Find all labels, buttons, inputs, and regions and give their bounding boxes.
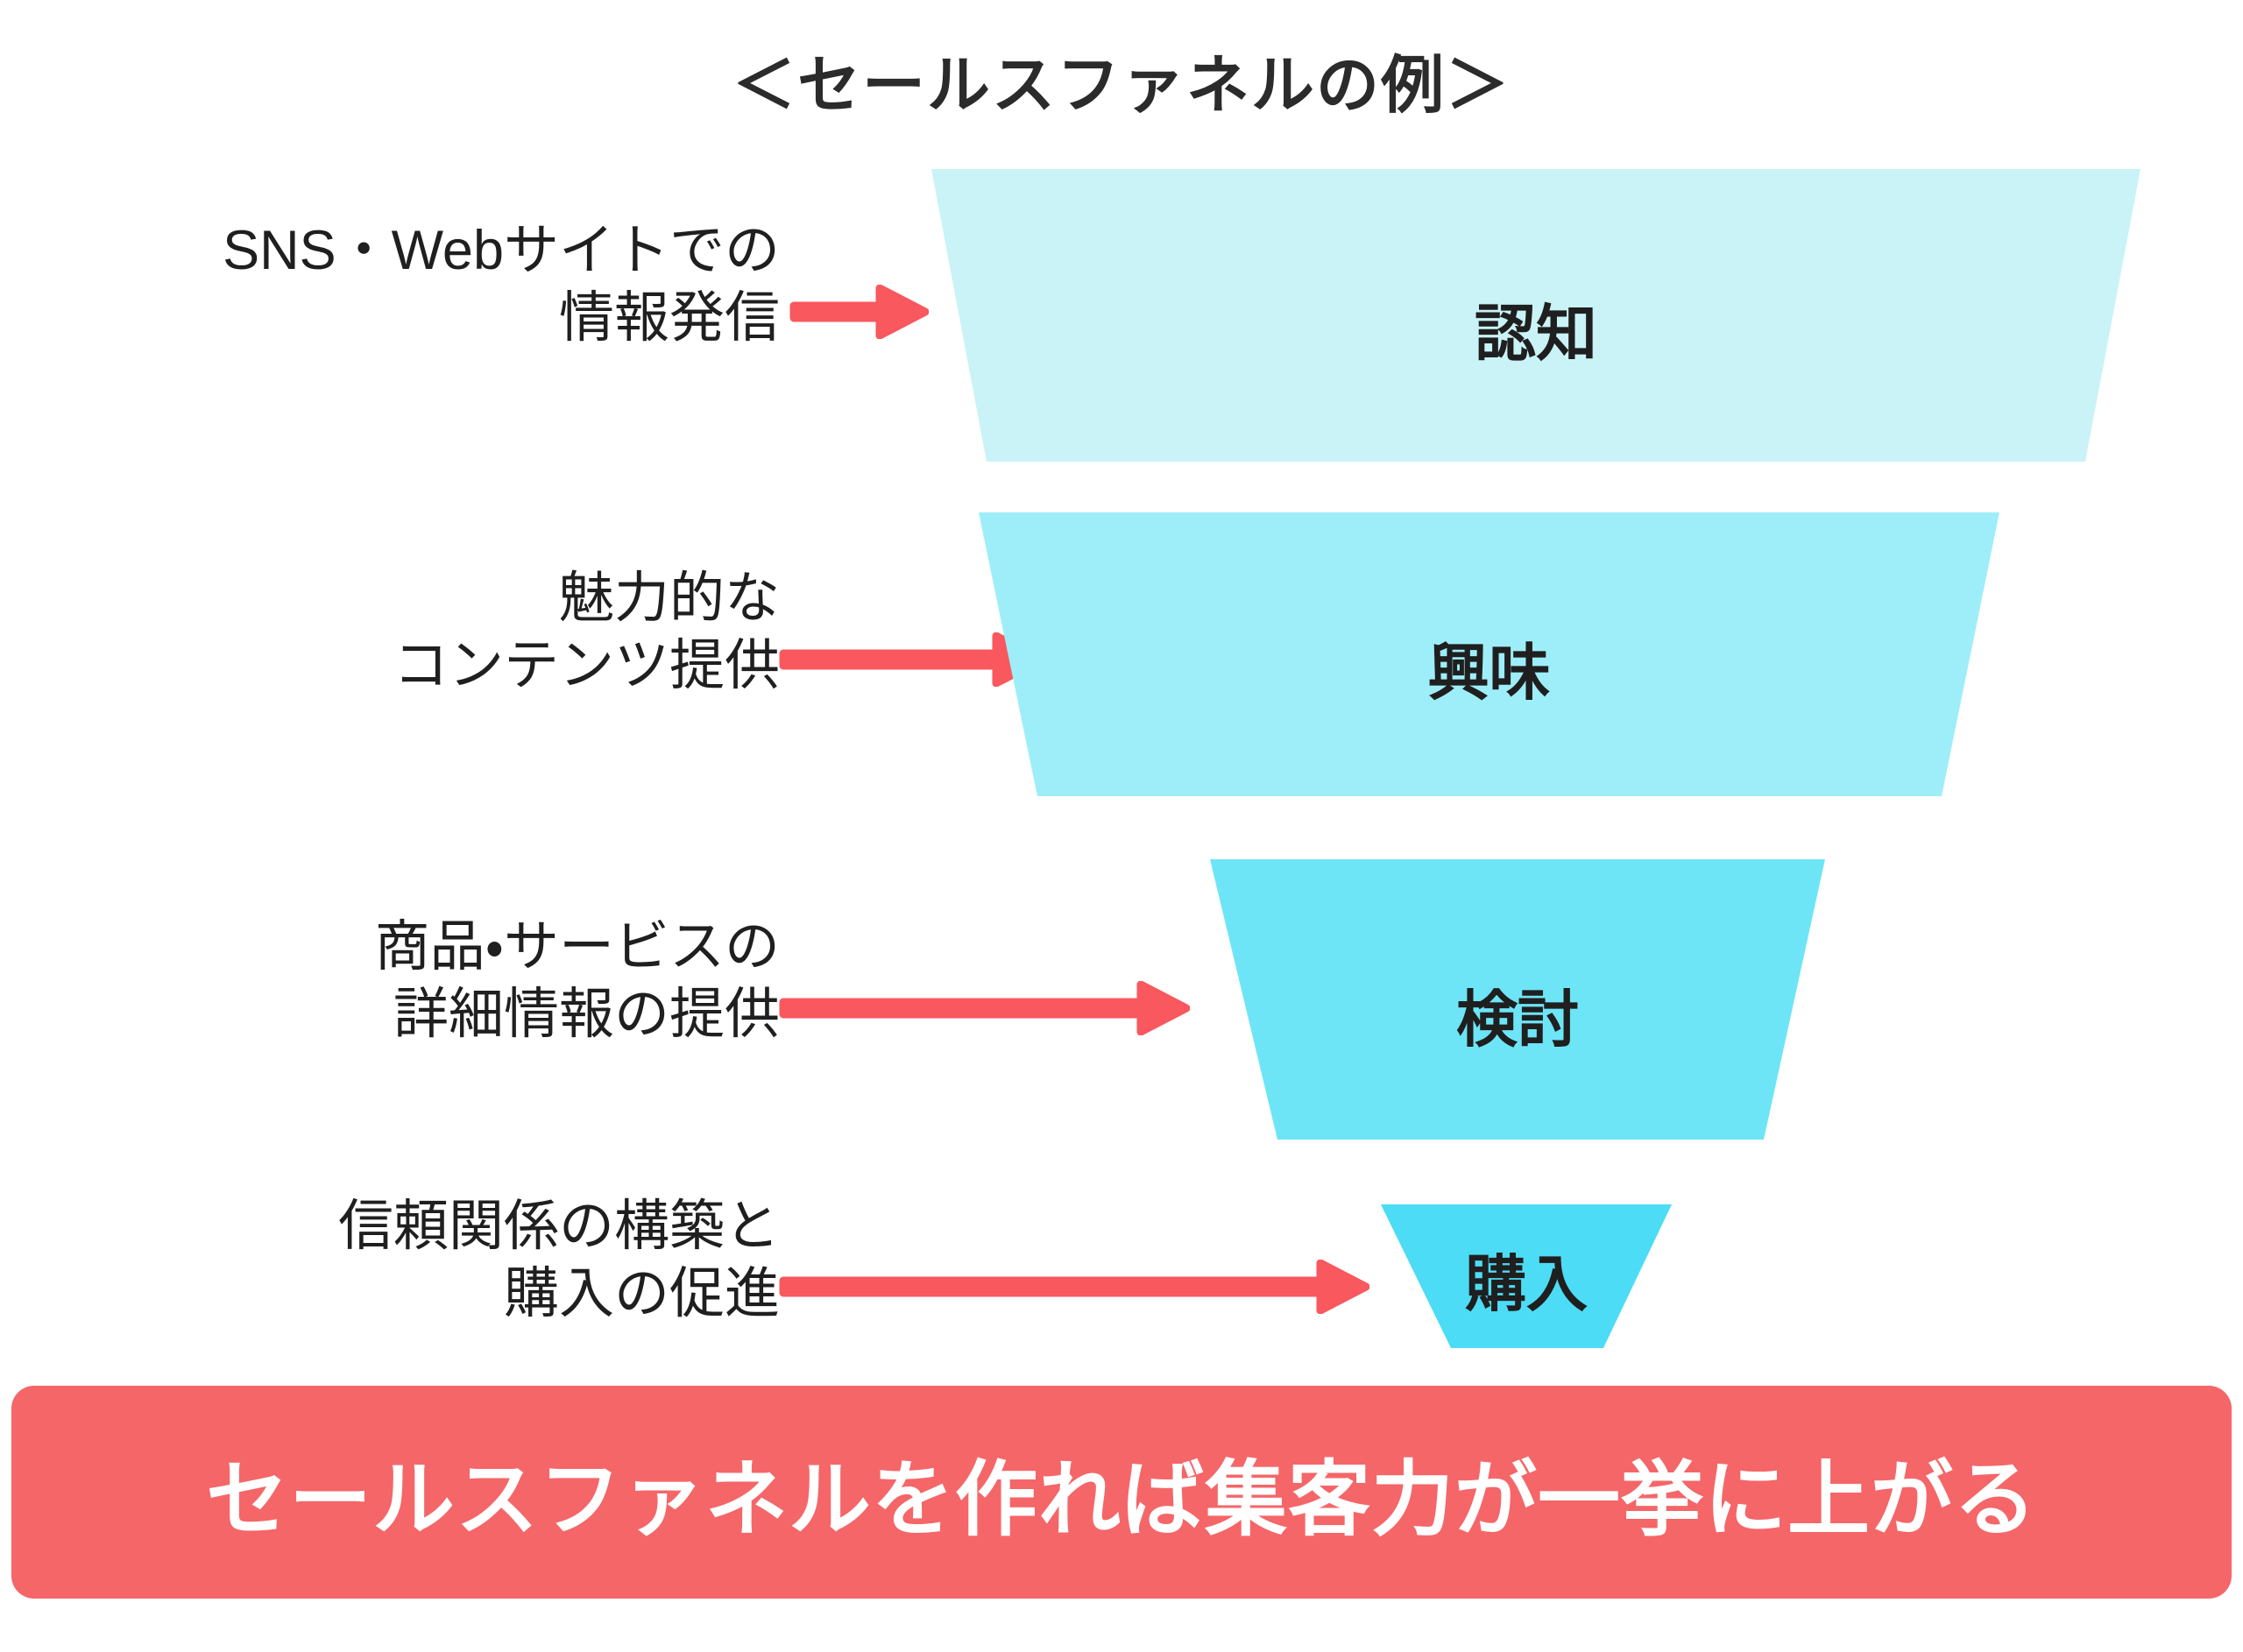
stage-description-purchase: 信頼関係の構築と 購入の促進 [53, 1193, 780, 1328]
stage-description-consideration: 商品・サービスの 詳細情報の提供 [53, 914, 780, 1048]
arrow-to-purchase [778, 1260, 1369, 1314]
page-title: ＜セールスファネルの例＞ [0, 33, 2243, 125]
stage-description-interest-line-2: コンテンツ提供 [53, 632, 780, 700]
stage-description-purchase-line-2: 購入の促進 [53, 1260, 780, 1328]
arrow-to-consideration [778, 981, 1190, 1035]
stage-description-awareness-line-2: 情報発信 [53, 285, 780, 352]
stage-description-interest-line-1: 魅力的な [53, 565, 780, 632]
stage-description-interest: 魅力的な コンテンツ提供 [53, 565, 780, 700]
summary-banner-text: セールスファネルを作れば集客力が一挙に上がる [206, 1433, 2037, 1552]
funnel-segment-interest [974, 510, 2004, 799]
funnel-segment-consideration [1206, 857, 1829, 1142]
stage-description-consideration-line-2: 詳細情報の提供 [53, 981, 780, 1048]
stage-description-awareness-line-1: SNS・Webサイトでの [53, 217, 780, 285]
stage-description-purchase-line-1: 信頼関係の構築と [53, 1193, 780, 1260]
funnel-segment-purchase [1377, 1202, 1675, 1351]
sales-funnel-infographic: ＜セールスファネルの例＞ SNS・Webサイトでの 情報発信 認知 魅力的な コ… [0, 0, 2243, 1652]
arrow-to-awareness [789, 285, 929, 339]
funnel-segment-awareness [927, 166, 2145, 464]
stage-description-consideration-line-1: 商品・サービスの [53, 914, 780, 981]
stage-description-awareness: SNS・Webサイトでの 情報発信 [53, 217, 780, 352]
summary-banner: セールスファネルを作れば集客力が一挙に上がる [11, 1386, 2232, 1599]
